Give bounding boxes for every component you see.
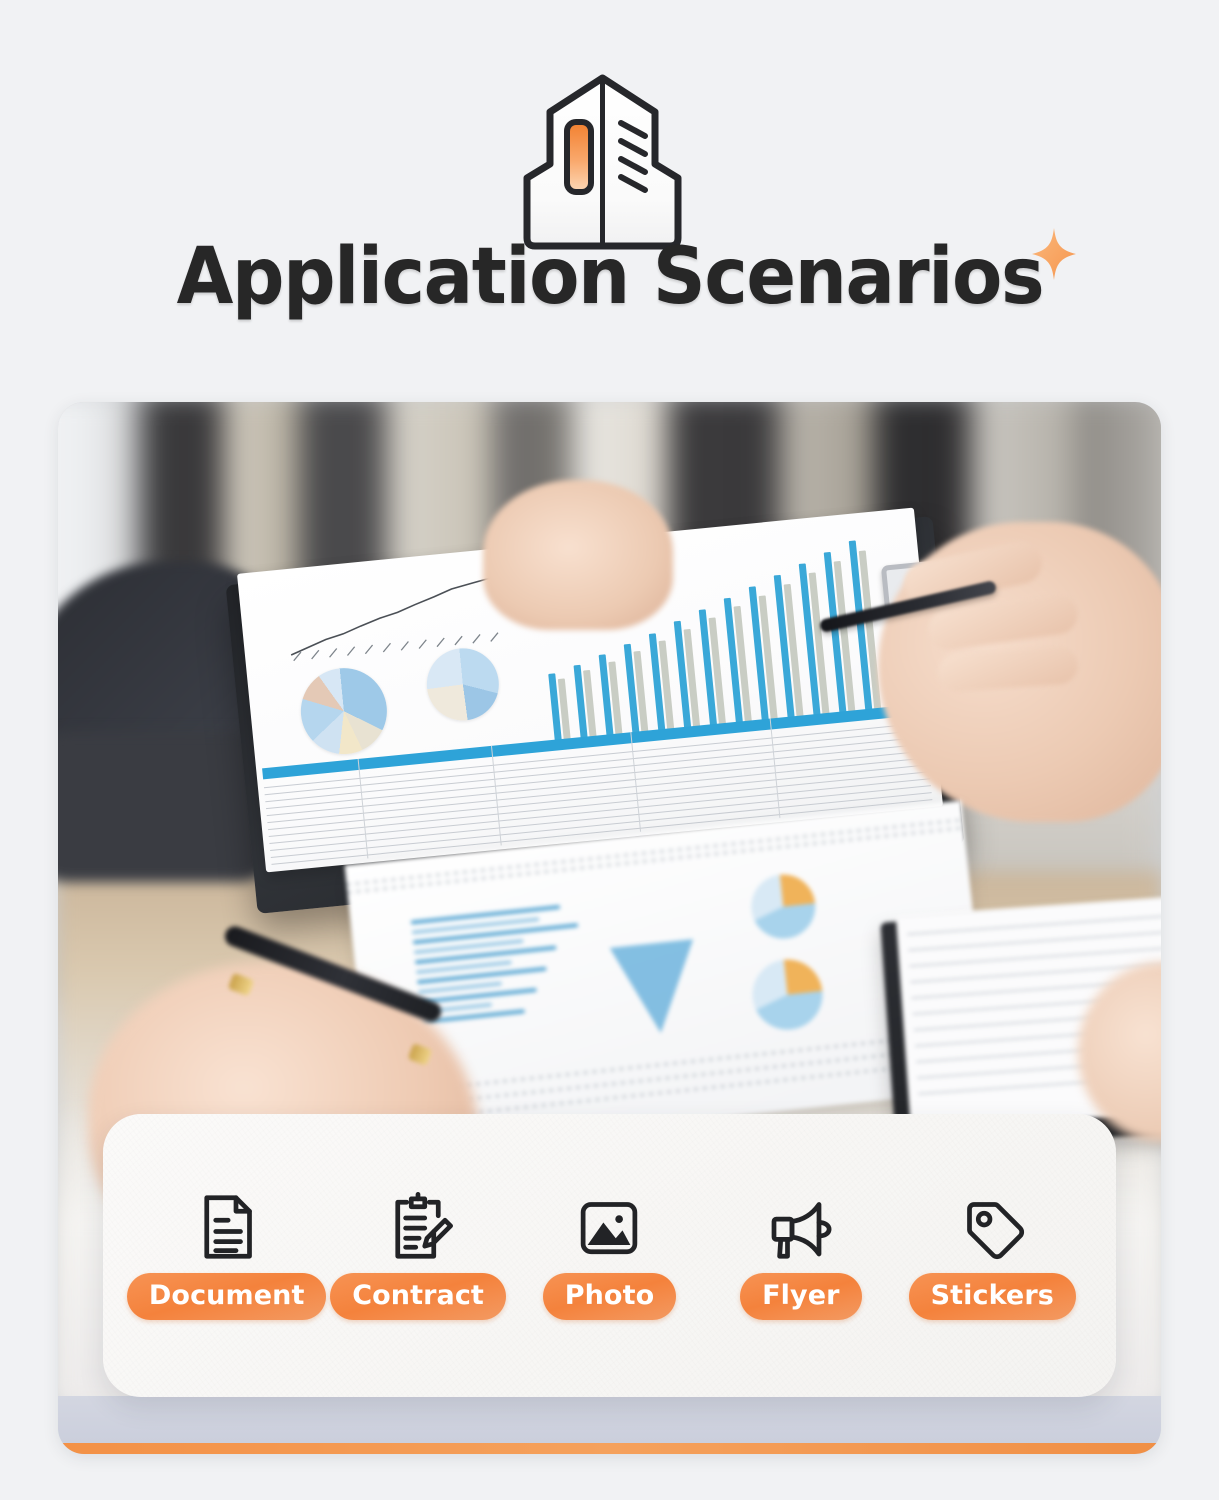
line-chart [281, 571, 517, 663]
scenario-label-stickers: Stickers [909, 1273, 1076, 1320]
scenario-label-document: Document [127, 1273, 327, 1320]
scenario-item-stickers[interactable]: Stickers [900, 1191, 1085, 1320]
application-scenarios-page: Application Scenarios [0, 0, 1219, 1500]
photo-image-icon [573, 1191, 645, 1263]
scenario-item-photo[interactable]: Photo [517, 1191, 702, 1320]
header-section: Application Scenarios [0, 0, 1219, 390]
price-tag-stickers-icon [956, 1191, 1028, 1263]
scenario-items-row: Document Contract [103, 1114, 1116, 1397]
megaphone-flyer-icon [765, 1191, 837, 1263]
pie-chart [748, 871, 818, 941]
pie-chart-left [297, 664, 391, 758]
scenario-label-photo: Photo [543, 1273, 677, 1320]
contract-clipboard-icon [382, 1191, 454, 1263]
scenario-item-document[interactable]: Document [134, 1191, 319, 1320]
pie-chart-right [424, 645, 503, 724]
orange-accent-bar [58, 1443, 1161, 1454]
building-tower-icon [495, 68, 710, 253]
hand-holding-clipboard-top [483, 480, 673, 630]
scenario-item-flyer[interactable]: Flyer [708, 1191, 893, 1320]
scenario-label-contract: Contract [330, 1273, 506, 1320]
page-title: Application Scenarios [176, 238, 1043, 318]
document-icon [191, 1191, 263, 1263]
scenario-item-contract[interactable]: Contract [326, 1191, 511, 1320]
scenario-feature-card: Document Contract [103, 1114, 1116, 1397]
cone-chart [610, 939, 703, 1037]
bar [411, 905, 561, 925]
pie-chart [749, 956, 826, 1033]
sparkle-icon [1032, 228, 1076, 280]
scenario-label-flyer: Flyer [740, 1273, 861, 1320]
